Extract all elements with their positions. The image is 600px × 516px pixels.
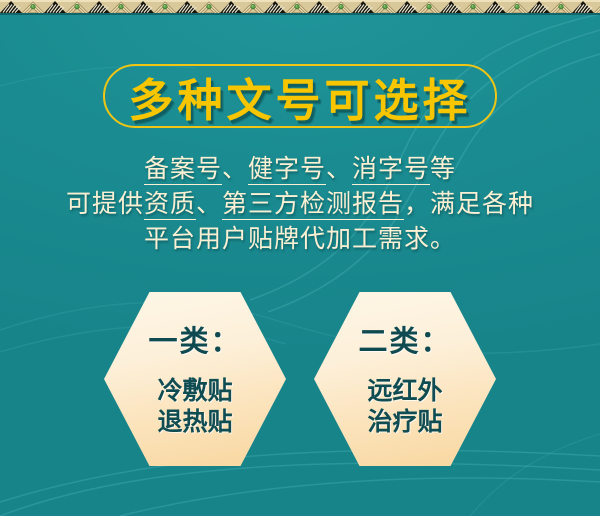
- body-line-2-seg-3: 、: [196, 191, 222, 218]
- chevron-band-ornament: [0, 0, 600, 14]
- top-border-band: [0, 0, 600, 14]
- body-line-1-seg-1: 备案号: [144, 156, 222, 185]
- body-line-1-seg-3: 健字号: [248, 156, 326, 185]
- body-line-3: 平台用户贴牌代加工需求。: [0, 222, 600, 257]
- band-underline-rule: [0, 13, 600, 15]
- body-line-1: 备案号、健字号、消字号等: [0, 152, 600, 187]
- body-line-2-seg-5: ，满足各种: [404, 191, 534, 218]
- category-1-items: 冷敷贴 退热贴: [157, 376, 232, 438]
- body-line-1-seg-5: 消字号: [352, 156, 430, 185]
- body-line-1-seg-6: 等: [430, 156, 456, 183]
- category-1-heading: 一类：: [148, 318, 241, 360]
- body-paragraph: 备案号、健字号、消字号等 可提供资质、第三方检测报告，满足各种 平台用户贴牌代加…: [0, 152, 600, 257]
- category-1-item-1: 冷敷贴: [157, 376, 232, 407]
- page-title: 多种文号可选择: [0, 58, 600, 134]
- category-2-items: 远红外 治疗贴: [367, 376, 442, 438]
- body-line-3-seg-1: 平台用户贴牌代加工需求。: [144, 226, 456, 253]
- body-line-1-seg-2: 、: [222, 156, 248, 183]
- body-line-1-seg-4: 、: [326, 156, 352, 183]
- body-line-2-seg-4: 第三方检测报告: [222, 191, 404, 220]
- category-1-item-2: 退热贴: [157, 407, 232, 438]
- category-2-item-1: 远红外: [367, 376, 442, 407]
- poster-canvas: 多种文号可选择 备案号、健字号、消字号等 可提供资质、第三方检测报告，满足各种 …: [0, 0, 600, 516]
- body-line-2-seg-2: 资质: [144, 191, 196, 220]
- body-line-2: 可提供资质、第三方检测报告，满足各种: [0, 187, 600, 222]
- category-2-item-2: 治疗贴: [367, 407, 442, 438]
- category-2-heading: 二类：: [358, 318, 451, 360]
- body-line-2-seg-1: 可提供: [66, 191, 144, 218]
